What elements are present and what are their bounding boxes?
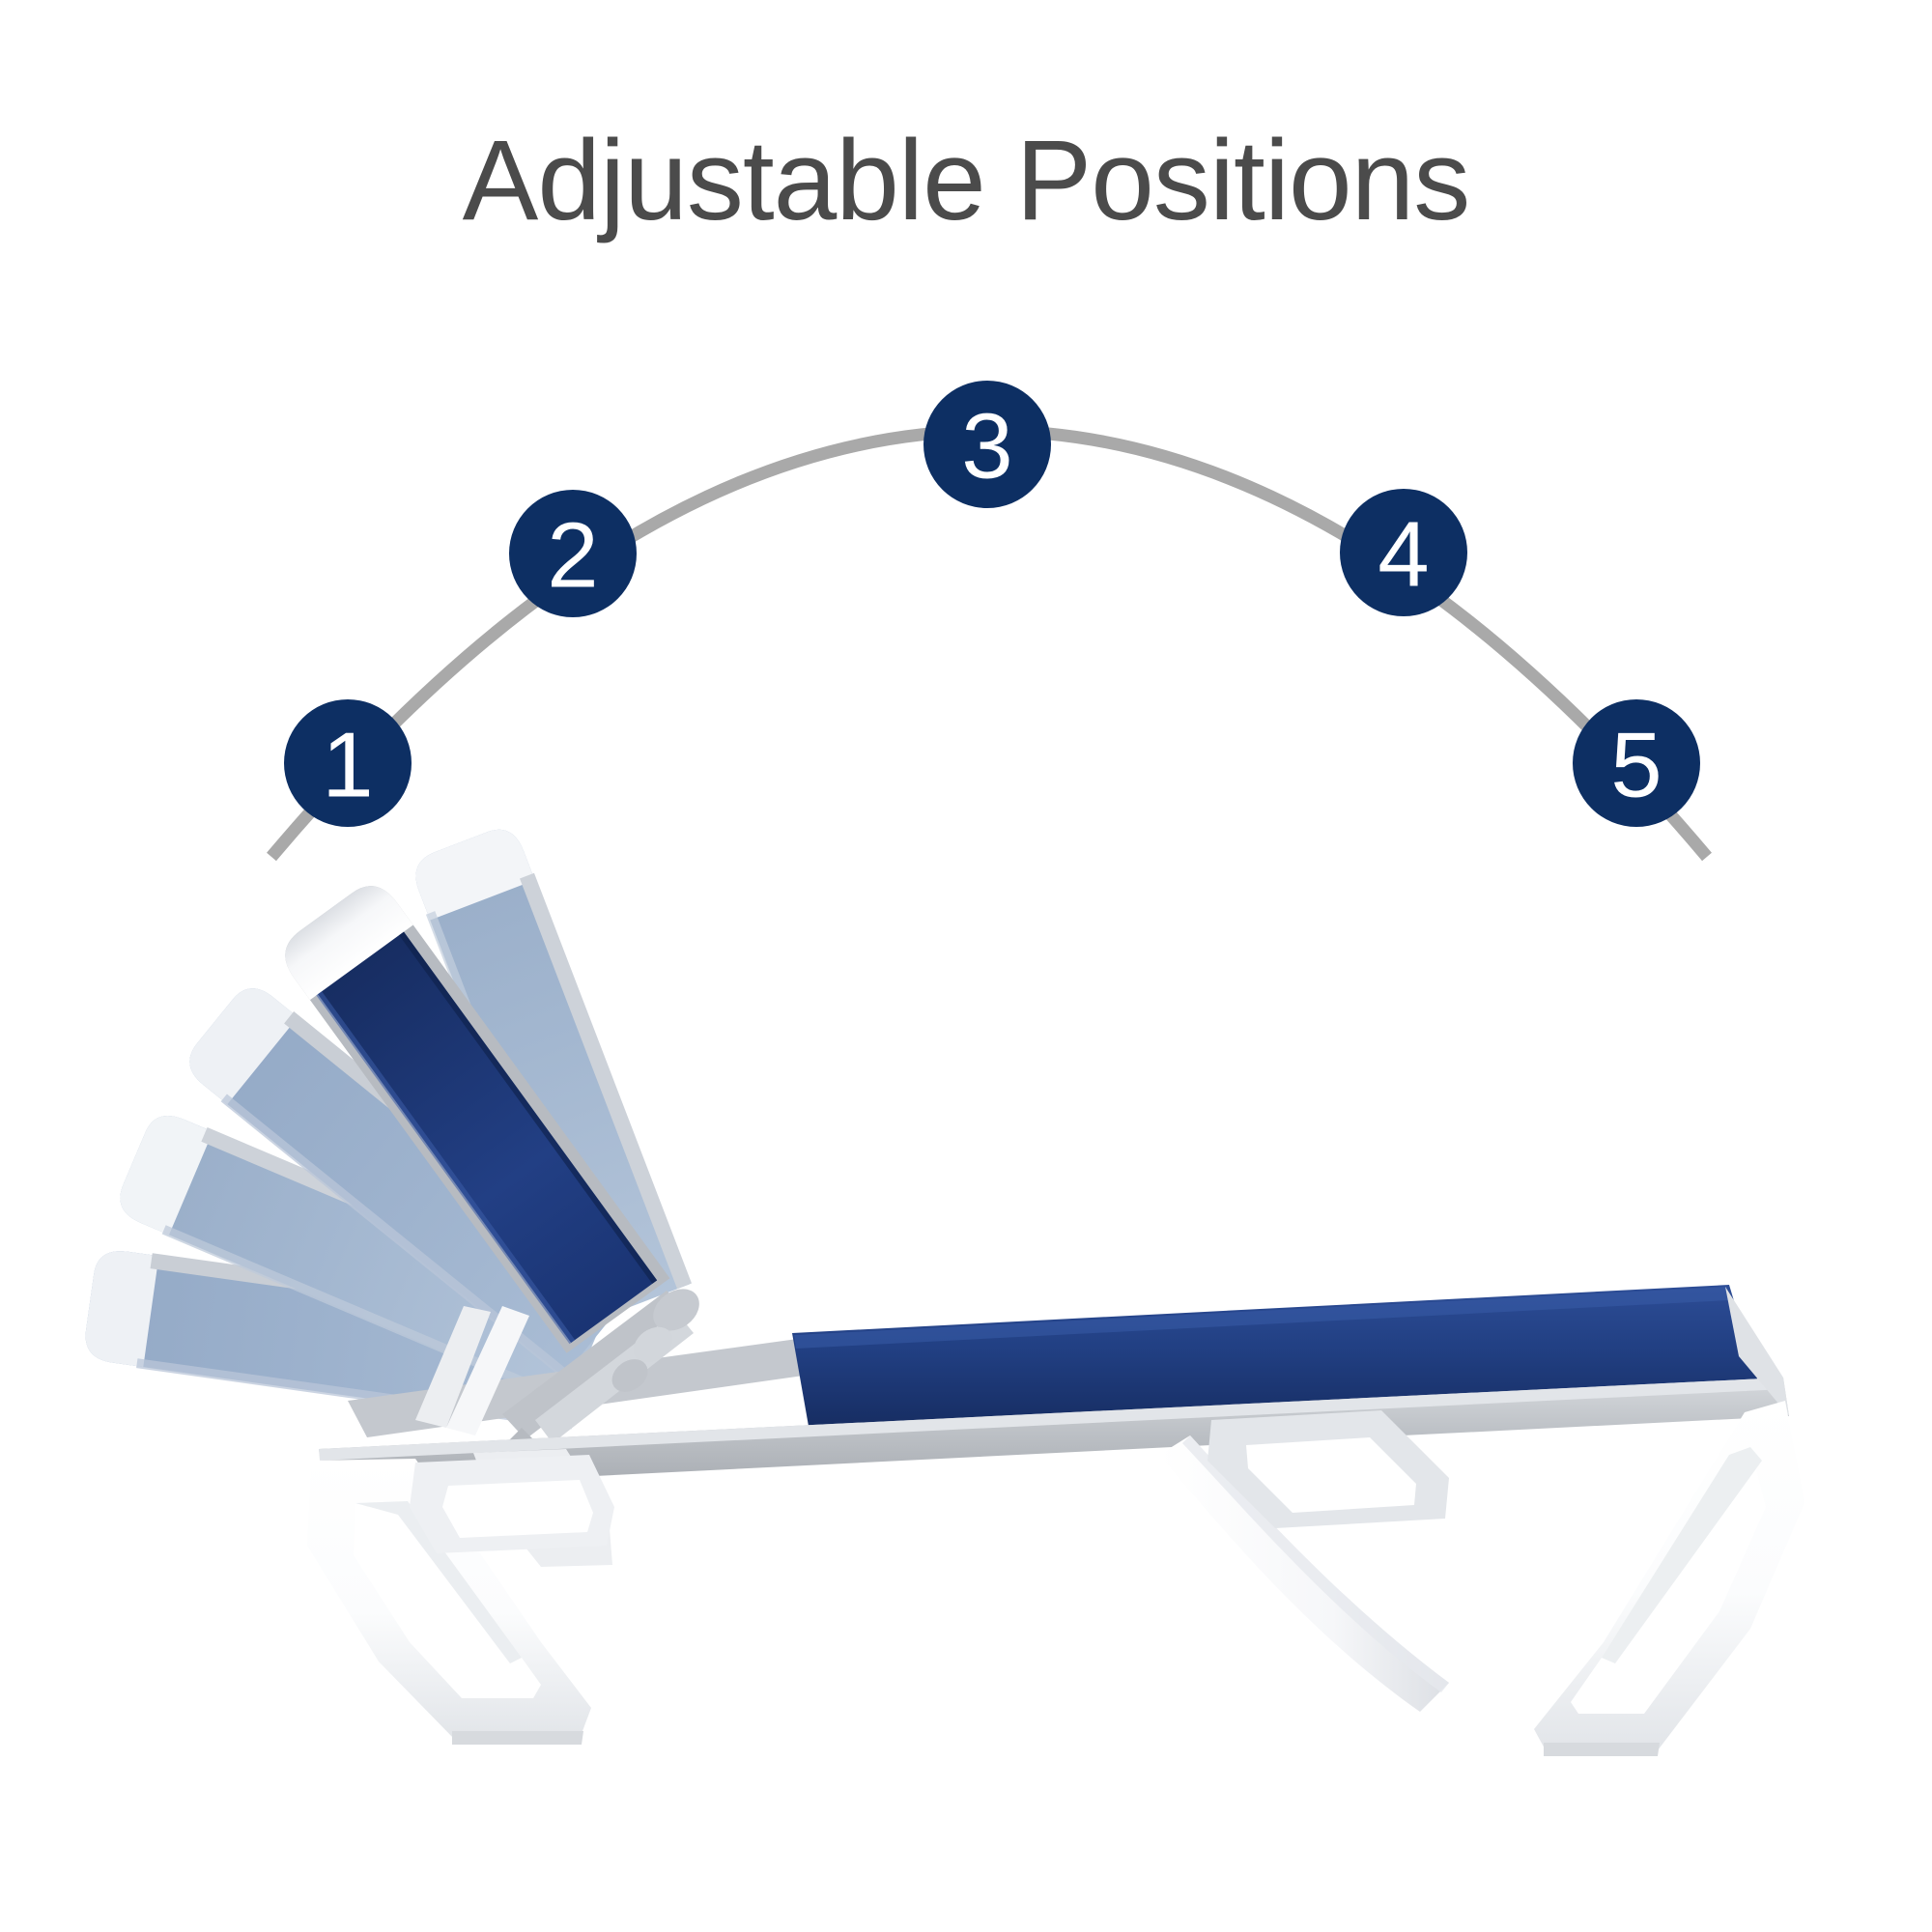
position-marker-5-label: 5: [1610, 714, 1662, 817]
position-markers: 1 2 3 4 5: [284, 381, 1700, 827]
position-marker-4[interactable]: 4: [1340, 489, 1467, 616]
product-illustration: 1 2 3 4 5: [0, 0, 1932, 1932]
leg-rear-right: [1534, 1401, 1804, 1756]
position-marker-2[interactable]: 2: [509, 490, 637, 617]
position-marker-2-label: 2: [547, 504, 598, 608]
position-marker-4-label: 4: [1378, 503, 1429, 607]
infographic-canvas: Adjustable Positions: [0, 0, 1932, 1932]
position-marker-3-label: 3: [961, 395, 1012, 498]
position-marker-5[interactable]: 5: [1573, 699, 1700, 827]
position-marker-1-label: 1: [322, 714, 373, 817]
position-marker-1[interactable]: 1: [284, 699, 412, 827]
position-marker-3[interactable]: 3: [923, 381, 1051, 508]
front-bracket-loop: [410, 1455, 614, 1553]
